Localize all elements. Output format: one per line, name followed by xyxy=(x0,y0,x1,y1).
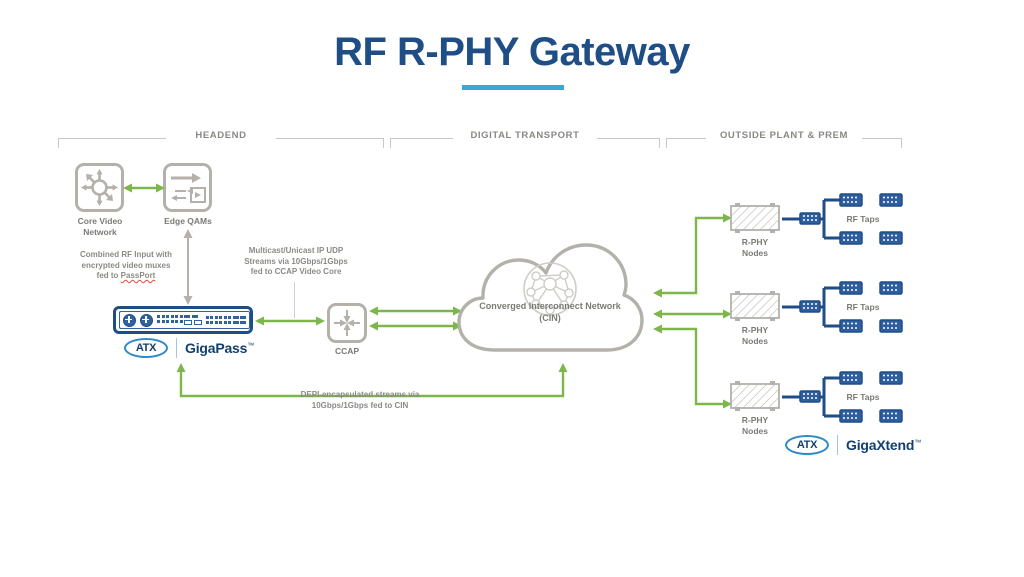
rphy-node-1-icon xyxy=(728,202,782,234)
atx-logo-text: ATX xyxy=(136,342,156,354)
rf-taps-1-label: RF Taps xyxy=(833,214,893,225)
ccap-label: CCAP xyxy=(307,346,387,357)
gigaxtend-product-name: GigaXtend™ xyxy=(846,437,921,453)
cin-label-line2: (CIN) xyxy=(455,312,645,324)
annotation-multicast-line2: Streams via 10Gbps/1Gbps xyxy=(225,257,367,268)
gigapass-device[interactable] xyxy=(113,306,253,334)
rphy-node-3-icon xyxy=(728,380,782,412)
rphy-node-2-icon xyxy=(728,290,782,322)
annotation-combined-rf-misspelled-word: PassPort xyxy=(121,271,156,280)
gigapass-faceplate xyxy=(119,311,250,329)
gigapass-port-circular-1 xyxy=(123,314,136,327)
arrow-core-to-edge xyxy=(122,178,166,198)
atx-logo-icon: ATX xyxy=(785,435,829,455)
gigaxtend-logo-lockup: ATX GigaXtend™ xyxy=(785,435,921,455)
logo-divider xyxy=(837,435,838,455)
core-video-network-label-line1: Core Video xyxy=(55,216,145,227)
gigapass-port-group-2 xyxy=(206,316,247,324)
tap-module xyxy=(800,391,820,402)
logo-divider xyxy=(176,338,177,358)
annotation-combined-rf-line3-prefix: fed to xyxy=(97,271,121,280)
tap-module xyxy=(840,372,862,384)
rphy-node-1-label-line2: Nodes xyxy=(710,248,800,259)
core-video-network-label: Core Video Network xyxy=(55,216,145,238)
rphy-node-2-label-line2: Nodes xyxy=(710,336,800,347)
section-label-outside-plant: OUTSIDE PLANT & PREM xyxy=(706,130,862,141)
tap-module xyxy=(840,194,862,206)
annotation-combined-rf-line1: Combined RF Input with xyxy=(70,250,182,261)
gigapass-port-circular-2 xyxy=(140,314,153,327)
arrow-ccap-to-cin-upper xyxy=(368,305,463,339)
annotation-depi-line2: 10Gbps/1Gbps fed to CIN xyxy=(260,401,460,412)
annotation-combined-rf-line2: encrypted video muxes xyxy=(70,261,182,272)
section-label-digital-transport: DIGITAL TRANSPORT xyxy=(453,130,597,141)
tap-module xyxy=(800,213,820,224)
tap-module xyxy=(840,282,862,294)
ccap-icon xyxy=(327,303,367,343)
arrow-cin-to-rphy-middle xyxy=(640,306,735,322)
core-video-network-label-line2: Network xyxy=(55,227,145,238)
annotation-combined-rf-line3: fed to PassPort xyxy=(70,271,182,282)
gigapass-product-name: GigaPass™ xyxy=(185,340,254,356)
tap-module xyxy=(800,301,820,312)
annotation-combined-rf: Combined RF Input with encrypted video m… xyxy=(70,250,182,282)
annotation-multicast: Multicast/Unicast IP UDP Streams via 10G… xyxy=(225,246,367,278)
annotation-depi: DEPI-encapsulated streams via 10Gbps/1Gb… xyxy=(260,390,460,411)
cin-label-line1: Converged Interconnect Network xyxy=(455,300,645,312)
tap-module xyxy=(840,410,862,422)
tap-module xyxy=(840,320,862,332)
tap-module xyxy=(880,372,902,384)
cin-label: Converged Interconnect Network (CIN) xyxy=(455,300,645,324)
tap-module xyxy=(880,194,902,206)
tap-module xyxy=(880,320,902,332)
section-label-headend: HEADEND xyxy=(166,130,276,141)
tap-module xyxy=(840,232,862,244)
atx-logo-icon: ATX xyxy=(124,338,168,358)
rf-taps-2-label: RF Taps xyxy=(833,302,893,313)
tap-module xyxy=(880,232,902,244)
title-underline xyxy=(462,85,564,90)
edge-qams-icon xyxy=(163,163,212,212)
gigapass-logo-lockup: ATX GigaPass™ xyxy=(124,338,254,358)
gigapass-port-group-1 xyxy=(157,315,202,325)
section-bracket-headend: HEADEND xyxy=(58,126,384,148)
arrow-cin-to-rphy-top xyxy=(640,205,735,320)
cin-cloud-shape xyxy=(455,240,645,358)
rf-taps-3-label: RF Taps xyxy=(833,392,893,403)
edge-qams-label: Edge QAMs xyxy=(147,216,229,227)
section-bracket-outside-plant: OUTSIDE PLANT & PREM xyxy=(666,126,902,148)
atx-logo-text: ATX xyxy=(797,439,817,451)
tap-module xyxy=(880,410,902,422)
annotation-multicast-line3: fed to CCAP Video Core xyxy=(225,267,367,278)
tap-module xyxy=(880,282,902,294)
page-title: RF R-PHY Gateway xyxy=(0,30,1024,75)
arrow-edge-qams-to-gigapass xyxy=(180,228,196,306)
diagram-canvas: RF R-PHY Gateway HEADEND DIGITAL TRANSPO… xyxy=(0,0,1024,577)
section-bracket-digital-transport: DIGITAL TRANSPORT xyxy=(390,126,660,148)
core-video-network-icon xyxy=(75,163,124,212)
arrow-gigapass-to-ccap xyxy=(254,313,326,329)
annotation-depi-line1: DEPI-encapsulated streams via xyxy=(260,390,460,401)
annotation-multicast-line1: Multicast/Unicast IP UDP xyxy=(225,246,367,257)
